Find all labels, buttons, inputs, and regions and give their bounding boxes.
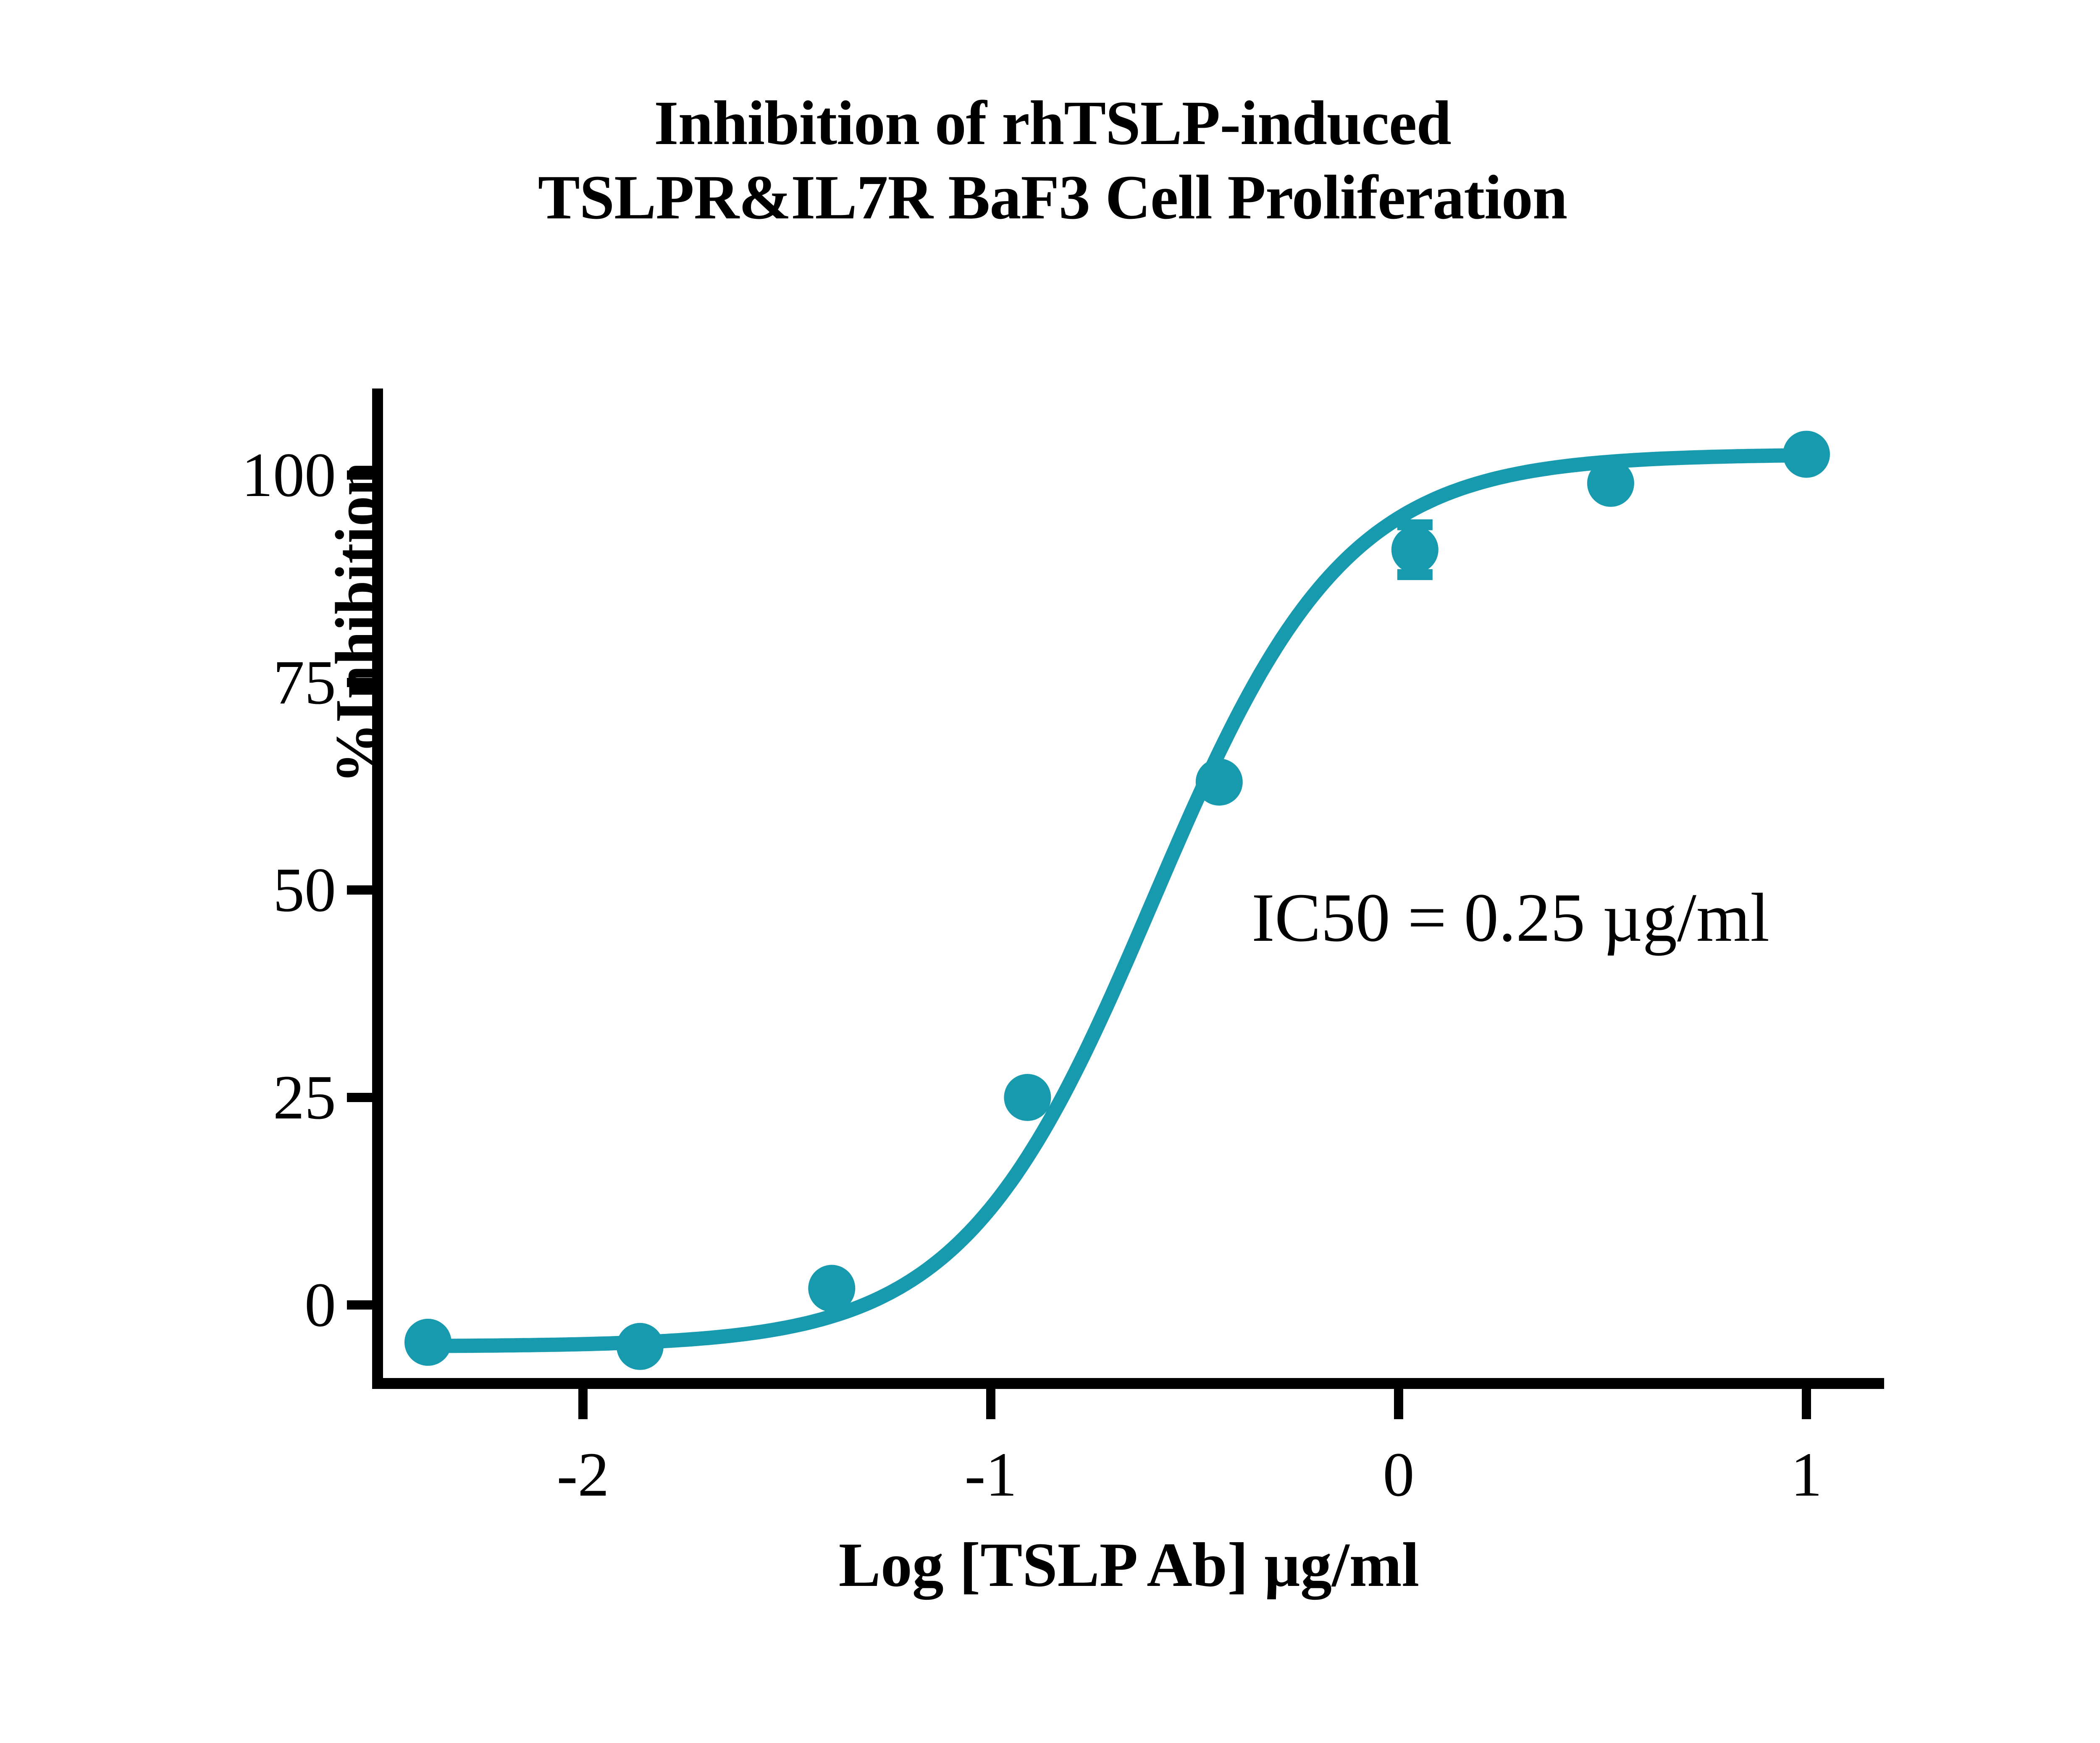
- y-tick-mark: [347, 678, 373, 687]
- x-axis-title: Log [TSLP Ab] µg/ml: [377, 1529, 1881, 1601]
- x-tick-label: -2: [557, 1438, 609, 1511]
- error-bar: [1397, 525, 1433, 575]
- x-tick-mark: [578, 1389, 588, 1419]
- page-title: Inhibition of rhTSLP-induced TSLPR&IL7R …: [0, 86, 2100, 235]
- data-point-marker: [1196, 759, 1243, 806]
- y-tick-mark: [347, 1093, 373, 1102]
- x-tick-label: 0: [1383, 1438, 1415, 1511]
- x-tick-mark: [986, 1389, 995, 1419]
- x-tick-mark: [1394, 1389, 1403, 1419]
- x-tick-mark: [1802, 1389, 1811, 1419]
- x-tick-label: 1: [1791, 1438, 1822, 1511]
- x-tick-label: -1: [965, 1438, 1017, 1511]
- data-point-marker: [1391, 526, 1438, 573]
- data-point-marker: [1783, 431, 1830, 478]
- x-axis-line: [372, 1378, 1884, 1389]
- y-axis-line: [372, 388, 383, 1388]
- y-tick-label: 100: [241, 439, 336, 511]
- data-point-marker: [617, 1323, 664, 1370]
- data-point-marker: [404, 1319, 451, 1366]
- data-point-marker: [1004, 1074, 1051, 1121]
- data-point-marker: [1587, 460, 1634, 507]
- y-tick-mark: [347, 885, 373, 895]
- y-tick-label: 25: [273, 1061, 336, 1134]
- y-tick-label: 50: [273, 854, 336, 926]
- ic50-annotation: IC50 = 0.25 µg/ml: [1252, 878, 1769, 958]
- y-tick-mark: [347, 470, 373, 480]
- data-point-marker: [808, 1265, 855, 1312]
- y-tick-label: 75: [273, 646, 336, 719]
- y-tick-mark: [347, 1300, 373, 1310]
- y-tick-label: 0: [304, 1269, 336, 1341]
- chart-figure: Inhibition of rhTSLP-induced TSLPR&IL7R …: [0, 0, 2100, 1743]
